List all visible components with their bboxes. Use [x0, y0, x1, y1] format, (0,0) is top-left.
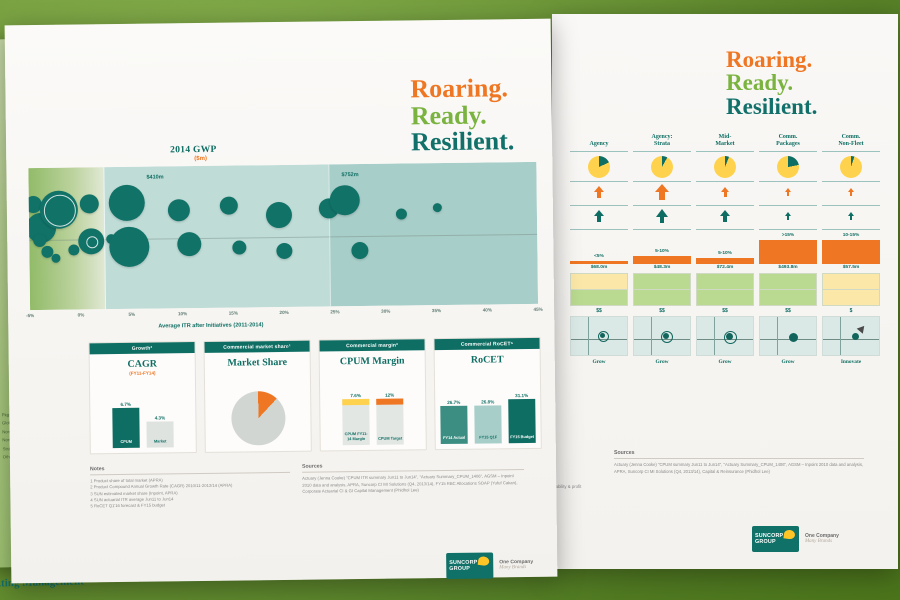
- rating-cell-top: [696, 273, 754, 290]
- bar-value-label: 26.8%: [474, 399, 501, 404]
- front-suncorp-logo: SUNCORPGROUP One Company Many Brands: [446, 552, 533, 579]
- margin-bar: [570, 261, 628, 264]
- metric-card-header: Commercial RoCET⁵: [434, 338, 539, 350]
- growth-arrow-orange: [759, 182, 817, 202]
- segment-pie-icon: [588, 156, 610, 178]
- gwp-chart-subtitle: ($m): [194, 156, 207, 162]
- x-tick: 30%: [381, 309, 390, 314]
- growth-arrow-orange: [570, 182, 628, 202]
- growth-arrow-teal: [570, 206, 628, 226]
- bar-group: 26.7%FY14 Actual: [440, 400, 468, 444]
- action-label: Grow: [696, 359, 754, 365]
- bar-value-label: 7.6%: [342, 393, 369, 398]
- note-line: 5 RoCET Q1'16 forecast & FY15 budget: [90, 501, 290, 510]
- metric-card[interactable]: Growth²CAGR(FY11-FY14)6.7%CPUM4.3%Market: [88, 341, 196, 454]
- metric-card-title: RoCET: [435, 354, 540, 366]
- bubble-datapoint: [276, 243, 292, 259]
- matrix-cell: <5%$68.0m: [570, 230, 628, 270]
- headline-line-2: Ready.: [726, 71, 817, 94]
- notes-title: Notes: [90, 464, 290, 475]
- bubble-datapoint: [220, 197, 238, 215]
- suncorp-logo-mark: SUNCORPGROUP: [752, 526, 799, 552]
- metric-card[interactable]: Commercial market share¹Market Share12.1…: [203, 340, 311, 453]
- segment-pie-icon: [840, 156, 862, 178]
- bubble-datapoint: [351, 241, 368, 258]
- arrow-shaft: [659, 192, 664, 199]
- quadrant-vline: [651, 317, 652, 355]
- arrow-shaft: [787, 216, 789, 219]
- rating-cell-bottom: [822, 290, 880, 306]
- matrix-cell: Grow: [696, 316, 754, 365]
- matrix-row: $$$$$$$$$: [570, 273, 886, 316]
- suncorp-logo-text: SUNCORPGROUP: [755, 533, 783, 545]
- arrow-shaft: [660, 217, 665, 224]
- quadrant-vline: [840, 317, 841, 355]
- matrix-cell: [822, 182, 880, 206]
- bar-category-label: CPUM: [113, 440, 140, 445]
- margin-pct-label: 5-10%: [696, 251, 754, 258]
- bubble-datapoint: [86, 236, 98, 248]
- position-dot: [789, 333, 798, 342]
- matrix-column-header: Comm.Non-Fleet: [822, 132, 880, 148]
- capital-dollars-label: $$: [570, 308, 628, 314]
- quadrant-vline: [588, 317, 589, 355]
- matrix-column-header: Mid-Market: [696, 132, 754, 148]
- arrow-shaft: [787, 192, 790, 196]
- suncorp-swoosh-icon: [478, 556, 490, 566]
- rating-cell-top: [822, 273, 880, 290]
- rating-cell-top: [759, 273, 817, 290]
- bar-category-label: Market: [147, 439, 174, 444]
- matrix-cell: [570, 182, 628, 206]
- position-ring: [661, 331, 673, 343]
- gwp-amount-label: $48.3m: [633, 265, 691, 270]
- matrix-row: GrowGrowGrowGrowInnovate: [570, 316, 886, 365]
- margin-bar: [759, 240, 817, 264]
- growth-arrow-teal: [822, 206, 880, 226]
- front-tagline: One Company Many Brands: [499, 558, 533, 571]
- arrow-head-icon: [656, 209, 668, 217]
- matrix-column-header: Agency: [570, 132, 628, 148]
- bar: FY15 Q1F: [474, 405, 501, 443]
- x-tick: 25%: [330, 309, 339, 314]
- metric-card-header: Growth²: [90, 342, 195, 354]
- gwp-amount-label: $493.8m: [759, 265, 817, 270]
- matrix-cell: $$: [759, 273, 817, 316]
- matrix-cell: 5-10%$72.4m: [696, 230, 754, 270]
- action-label: Grow: [570, 359, 628, 365]
- margin-pct-label: 5-10%: [633, 249, 691, 256]
- capital-dollars-label: $$: [633, 308, 691, 314]
- trend-arrow-icon: [856, 324, 867, 335]
- x-tick: 10%: [178, 311, 187, 316]
- matrix-cell: Comm.Packages: [759, 132, 817, 182]
- matrix-cell: [633, 182, 691, 206]
- margin-pct-label: <5%: [570, 254, 628, 261]
- position-ring: [724, 331, 737, 344]
- bar-value-label: 31.1%: [508, 393, 535, 398]
- suncorp-logo-text: SUNCORPGROUP: [449, 559, 478, 572]
- back-tagline: One Company Many Brands: [805, 533, 839, 546]
- action-label: Grow: [633, 359, 691, 365]
- matrix-cell: $$: [696, 273, 754, 316]
- matrix-row: <5%$68.0m5-10%$48.3m5-10%$72.4m>15%$493.…: [570, 230, 886, 270]
- matrix-cell: $$: [570, 273, 628, 316]
- x-tick: -5%: [26, 313, 34, 318]
- bar-group: 7.6%CPUM FY11-14 Margin: [342, 393, 370, 445]
- bar: FY15 Budget: [508, 399, 536, 443]
- bubble-label-right: $752m: [341, 172, 358, 178]
- bar: CPUM: [112, 408, 139, 449]
- action-label: Grow: [759, 359, 817, 365]
- margin-pct-label: 10-15%: [822, 233, 880, 240]
- rating-cell-top: [633, 273, 691, 290]
- back-suncorp-logo: SUNCORPGROUP One Company Many Brands: [752, 526, 839, 552]
- matrix-cell: [759, 206, 817, 230]
- position-dot: [852, 333, 859, 340]
- arrow-shaft: [850, 192, 853, 196]
- notes-block: Notes 1 Product share of total market (A…: [90, 464, 291, 510]
- matrix-cell: Agency: [570, 132, 628, 182]
- margin-bar-block: 5-10%: [696, 230, 754, 264]
- segment-matrix: AgencyAgency:StrataMid-MarketComm.Packag…: [570, 132, 886, 365]
- front-headline: Roaring. Ready. Resilient.: [410, 75, 514, 156]
- bar-category-label: FY15 Budget: [509, 435, 536, 440]
- bar-group: 31.1%FY15 Budget: [508, 393, 536, 443]
- quadrant-hline: [760, 339, 816, 340]
- bubble-datapoint: [395, 208, 406, 219]
- bubble-datapoint: [330, 185, 360, 215]
- sources-block: Sources Actuary (Jenna Cooke) "CPUM ITR …: [302, 461, 524, 495]
- x-tick: 35%: [432, 308, 441, 313]
- back-headline: Roaring. Ready. Resilient.: [726, 48, 817, 118]
- bar-category-label: FY15 Q1F: [475, 435, 502, 440]
- bar-value-label: 6.7%: [112, 402, 139, 407]
- arrow-shaft: [724, 192, 727, 196]
- bubble-datapoint: [33, 233, 46, 246]
- x-axis-ticks: -5%0%5%10%15%20%25%30%35%40%45%: [30, 307, 538, 323]
- matrix-cell: Comm.Non-Fleet: [822, 132, 880, 182]
- arrow-shaft: [597, 192, 601, 197]
- margin-bar: [696, 258, 754, 264]
- x-axis-title: Average ITR after Initiatives (2011-2014…: [158, 322, 263, 329]
- rating-cell-bottom: [570, 290, 628, 306]
- matrix-cell: Grow: [633, 316, 691, 365]
- matrix-column-header: Agency:Strata: [633, 132, 691, 148]
- position-quadrant: [759, 316, 817, 356]
- bubble-datapoint: [177, 232, 201, 256]
- capital-dollars-label: $$: [696, 308, 754, 314]
- matrix-rule: [633, 151, 691, 152]
- bubble-datapoint: [109, 185, 145, 221]
- gwp-amount-label: $57.5m: [822, 265, 880, 270]
- bubble-datapoint: [44, 195, 76, 227]
- matrix-rule: [759, 151, 817, 152]
- gwp-amount-label: $72.4m: [696, 265, 754, 270]
- bar-group: 4.3%Market: [146, 416, 173, 448]
- matrix-rule: [822, 151, 880, 152]
- x-tick: 40%: [483, 307, 492, 312]
- segment-pie-icon: [651, 156, 673, 178]
- position-quadrant: [570, 316, 628, 356]
- x-tick: 0%: [78, 312, 85, 317]
- metric-card[interactable]: Commercial RoCET⁵RoCET26.7%FY14 Actual26…: [433, 337, 541, 450]
- metric-card-title: Market Share: [205, 357, 310, 369]
- metric-card[interactable]: Commercial margin³CPUM Margin7.6%CPUM FY…: [318, 338, 426, 451]
- arrow-head-icon: [655, 184, 669, 192]
- front-document-sheet[interactable]: Roaring. Ready. Resilient. 2014 GWP ($m)…: [5, 19, 558, 584]
- action-label: Innovate: [822, 359, 880, 365]
- bar-category-label: CPUM FY11-14 Margin: [343, 432, 370, 442]
- matrix-cell: [633, 206, 691, 230]
- bar-group: 12%CPUM Target: [376, 393, 404, 445]
- bar-group: 26.8%FY15 Q1F: [474, 399, 502, 443]
- headline-line-1: Roaring.: [726, 48, 817, 71]
- matrix-cell: $$: [633, 273, 691, 316]
- x-tick: 5%: [128, 312, 135, 317]
- headline-line-2: Ready.: [411, 102, 515, 130]
- arrow-shaft: [723, 216, 727, 221]
- bar: FY14 Actual: [440, 406, 467, 444]
- bubble-datapoint: [168, 199, 190, 221]
- matrix-column-header: Comm.Packages: [759, 132, 817, 148]
- margin-bar: [633, 256, 691, 264]
- margin-bar-block: 5-10%: [633, 230, 691, 264]
- back-side-note: ...ability & profit: [552, 484, 581, 489]
- margin-bar: [822, 240, 880, 264]
- matrix-cell: [822, 206, 880, 230]
- bubble-datapoint: [432, 203, 441, 212]
- bar: CPUM Target: [376, 399, 404, 445]
- margin-bar-block: >15%: [759, 230, 817, 264]
- matrix-cell: 5-10%$48.3m: [633, 230, 691, 270]
- margin-pct-label: >15%: [759, 233, 817, 240]
- bar: Market: [146, 422, 173, 448]
- growth-arrow-teal: [633, 206, 691, 226]
- bar-category-label: FY14 Actual: [441, 436, 468, 441]
- metric-card-title: CPUM Margin: [320, 355, 425, 367]
- bar-cap: [376, 399, 403, 405]
- position-quadrant: [633, 316, 691, 356]
- x-tick: 15%: [229, 311, 238, 316]
- x-tick: 45%: [533, 307, 542, 312]
- x-tick: 20%: [280, 310, 289, 315]
- headline-line-1: Roaring.: [410, 75, 514, 103]
- quadrant-vline: [714, 317, 715, 355]
- matrix-cell: Grow: [570, 316, 628, 365]
- matrix-row: [570, 206, 886, 230]
- gwp-chart-title: 2014 GWP: [170, 145, 217, 156]
- matrix-cell: Mid-Market: [696, 132, 754, 182]
- sources-text: Actuary (Jenna Cooke) "CPUM ITR summary …: [302, 473, 524, 495]
- bar: CPUM FY11-14 Margin: [342, 399, 370, 445]
- position-quadrant: [696, 316, 754, 356]
- rating-cell-bottom: [759, 290, 817, 306]
- quadrant-vline: [777, 317, 778, 355]
- matrix-cell: [759, 182, 817, 206]
- matrix-cell: Grow: [759, 316, 817, 365]
- margin-bar-block: 10-15%: [822, 230, 880, 264]
- growth-arrow-teal: [759, 206, 817, 226]
- headline-line-3: Resilient.: [726, 95, 817, 118]
- bar-group: 6.7%CPUM: [112, 402, 140, 449]
- back-tagline-2: Many Brands: [805, 539, 839, 546]
- front-tagline-2: Many Brands: [499, 565, 533, 572]
- position-ring: [598, 331, 609, 342]
- bubble-datapoint: [232, 240, 246, 254]
- matrix-cell: Agency:Strata: [633, 132, 691, 182]
- margin-bar-block: <5%: [570, 230, 628, 264]
- back-document-sheet[interactable]: Roaring. Ready. Resilient. AgencyAgency:…: [552, 14, 898, 569]
- matrix-cell: Innovate: [822, 316, 880, 365]
- metric-card-subtitle: (FY11-FY14): [90, 370, 195, 376]
- matrix-rule: [570, 151, 628, 152]
- pie-value-label: 12.1%: [285, 345, 298, 350]
- position-quadrant: [822, 316, 880, 356]
- growth-arrow-teal: [696, 206, 754, 226]
- bar-chart: 7.6%CPUM FY11-14 Margin12%CPUM Target: [320, 384, 426, 445]
- rating-cell-top: [570, 273, 628, 290]
- bubble-chart-plot: $410m $752m: [28, 162, 538, 310]
- bar-value-label: 26.7%: [440, 400, 467, 405]
- arrow-shaft: [850, 216, 852, 219]
- suncorp-logo-mark: SUNCORPGROUP: [446, 552, 493, 579]
- matrix-cell: [570, 206, 628, 230]
- matrix-rule: [696, 151, 754, 152]
- bar-chart: 26.7%FY14 Actual26.8%FY15 Q1F31.1%FY15 B…: [435, 383, 541, 444]
- back-sources-title: Sources: [614, 450, 864, 459]
- bubble-datapoint: [79, 194, 98, 213]
- arrow-shaft: [597, 216, 601, 221]
- rating-cell-bottom: [696, 290, 754, 306]
- matrix-row: [570, 182, 886, 206]
- matrix-cell: [696, 206, 754, 230]
- growth-arrow-orange: [696, 182, 754, 202]
- bubble-label-left: $410m: [146, 174, 163, 180]
- bar-value-label: 4.3%: [146, 416, 173, 421]
- bar-category-label: CPUM Target: [377, 437, 404, 442]
- back-sources-text: Actuary (Jenna Cooke) "CPUM summary Jun1…: [614, 462, 864, 475]
- gwp-amount-label: $68.0m: [570, 265, 628, 270]
- matrix-cell: $: [822, 273, 880, 316]
- bar-cap: [342, 399, 369, 405]
- growth-arrow-orange: [633, 182, 691, 202]
- pie-chart: [205, 391, 311, 446]
- matrix-cell: 10-15%$57.5m: [822, 230, 880, 270]
- bubble-datapoint: [266, 202, 292, 228]
- back-sources-block: Sources Actuary (Jenna Cooke) "CPUM summ…: [614, 450, 864, 475]
- bar-value-label: 12%: [376, 393, 403, 398]
- growth-arrow-orange: [822, 182, 880, 202]
- bubble-datapoint: [68, 244, 79, 255]
- sources-title: Sources: [302, 461, 524, 473]
- metric-card-header: Commercial margin³: [319, 339, 424, 351]
- segment-pie-icon: [777, 156, 799, 178]
- matrix-cell: >15%$493.8m: [759, 230, 817, 270]
- headline-line-3: Resilient.: [411, 128, 515, 156]
- metric-cards: Growth²CAGR(FY11-FY14)6.7%CPUM4.3%Market…: [88, 337, 541, 455]
- capital-dollars-label: $: [822, 308, 880, 314]
- suncorp-swoosh-icon: [783, 529, 795, 539]
- pie-slice-group: [231, 391, 286, 446]
- matrix-cell: [696, 182, 754, 206]
- matrix-row: AgencyAgency:StrataMid-MarketComm.Packag…: [570, 132, 886, 182]
- segment-pie-icon: [714, 156, 736, 178]
- metric-card-title: CAGR: [90, 358, 195, 370]
- bubble-datapoint: [51, 253, 60, 262]
- rating-cell-bottom: [633, 290, 691, 306]
- quadrant-hline: [823, 339, 879, 340]
- capital-dollars-label: $$: [759, 308, 817, 314]
- bar-chart: 6.7%CPUM4.3%Market: [90, 387, 196, 448]
